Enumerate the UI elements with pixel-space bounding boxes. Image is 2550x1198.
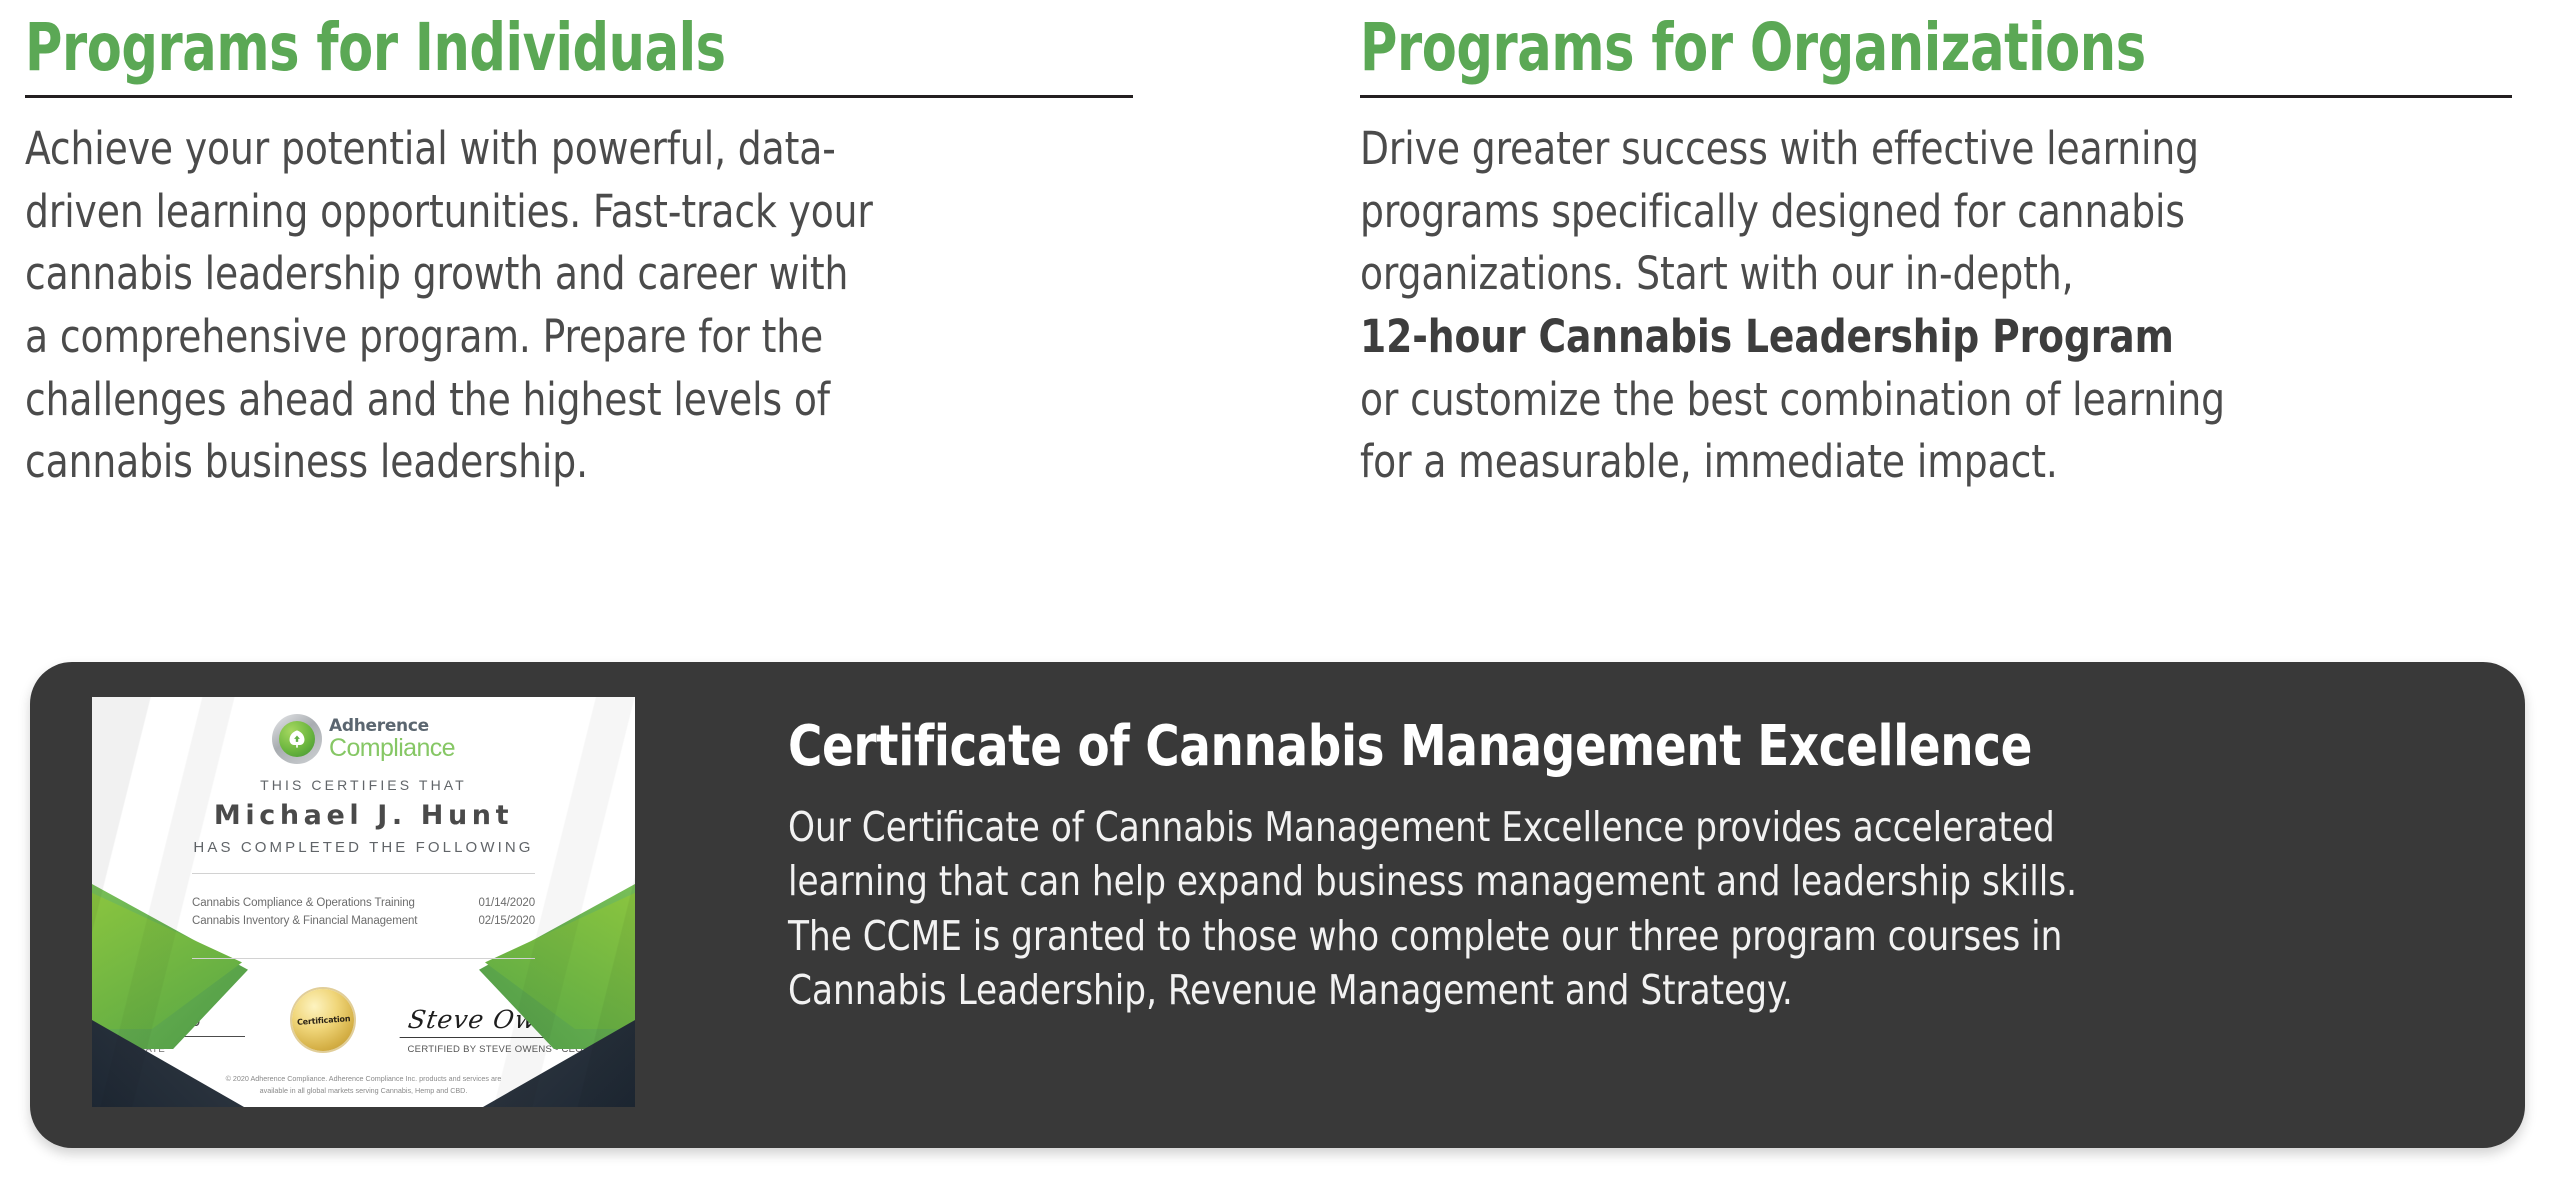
- organizations-body-line: or customize the best combination of lea…: [1360, 369, 2434, 432]
- programs-page: Programs for Individuals Achieve your po…: [0, 0, 2550, 1198]
- logo-inner-disc: [279, 721, 315, 757]
- adherence-compliance-logo: Adherence Compliance: [138, 711, 589, 767]
- certificate-card-title: Certificate of Cannabis Management Excel…: [788, 718, 2348, 777]
- course-date: 02/15/2020: [478, 913, 535, 931]
- certificate-subtitle: HAS COMPLETED THE FOLLOWING: [138, 839, 589, 856]
- course-name: Cannabis Inventory & Financial Managemen…: [192, 913, 417, 931]
- logo-brand-top: Adherence: [329, 718, 455, 735]
- leaf-upload-icon: [272, 714, 322, 764]
- organizations-heading: Programs for Organizations: [1360, 14, 2353, 81]
- individuals-heading: Programs for Individuals: [25, 14, 980, 81]
- certificate-course-list: Cannabis Compliance & Operations Trainin…: [192, 895, 535, 931]
- individuals-body-line: Achieve your potential with powerful, da…: [25, 118, 1057, 181]
- course-date: 01/14/2020: [478, 895, 535, 913]
- certificate-course-row: Cannabis Compliance & Operations Trainin…: [192, 895, 535, 913]
- certificate-description-line: Cannabis Leadership, Revenue Management …: [788, 963, 2348, 1018]
- organizations-body: Drive greater success with effective lea…: [1360, 118, 2434, 493]
- programs-for-individuals-column: Programs for Individuals Achieve your po…: [25, 14, 1135, 494]
- certificate-recipient-name: Michael J. Hunt: [138, 800, 589, 831]
- organizations-body-line: Drive greater success with effective lea…: [1360, 118, 2434, 181]
- certificate-thumbnail[interactable]: Adherence Compliance THIS CERTIFIES THAT…: [92, 697, 635, 1107]
- fineprint-line: available in all global markets serving …: [260, 1086, 468, 1095]
- certificate-card-description: Our Certificate of Cannabis Management E…: [788, 800, 2348, 1018]
- certificate-description-line: learning that can help expand business m…: [788, 854, 2348, 909]
- individuals-body-line: a comprehensive program. Prepare for the: [25, 306, 1057, 369]
- individuals-body-line: cannabis leadership growth and career wi…: [25, 243, 1057, 306]
- cannabis-leadership-program-emphasis: 12-hour Cannabis Leadership Program: [1360, 306, 2434, 369]
- individuals-heading-rule: [25, 95, 1133, 98]
- course-name: Cannabis Compliance & Operations Trainin…: [192, 895, 415, 913]
- fineprint-line: © 2020 Adherence Compliance. Adherence C…: [226, 1074, 502, 1083]
- certificate-content: Adherence Compliance THIS CERTIFIES THAT…: [92, 697, 635, 1107]
- individuals-body-line: cannabis business leadership.: [25, 431, 1057, 494]
- individuals-body-line: driven learning opportunities. Fast-trac…: [25, 181, 1057, 244]
- organizations-body-line: organizations. Start with our in-depth,: [1360, 243, 2434, 306]
- individuals-body: Achieve your potential with powerful, da…: [25, 118, 1057, 493]
- certificate-fineprint: © 2020 Adherence Compliance. Adherence C…: [212, 1073, 515, 1097]
- certificate-divider-bottom: [192, 958, 535, 959]
- organizations-body-line: programs specifically designed for canna…: [1360, 181, 2434, 244]
- logo-brand-bottom: Compliance: [329, 736, 455, 761]
- certificate-course-row: Cannabis Inventory & Financial Managemen…: [192, 913, 535, 931]
- certificate-divider-top: [192, 873, 535, 874]
- programs-columns: Programs for Individuals Achieve your po…: [0, 0, 2550, 620]
- programs-for-organizations-column: Programs for Organizations Drive greater…: [1360, 14, 2515, 494]
- certificate-kicker: THIS CERTIFIES THAT: [138, 777, 589, 793]
- certificate-card-copy: Certificate of Cannabis Management Excel…: [788, 718, 2465, 1018]
- logo-wordmark: Adherence Compliance: [329, 718, 455, 761]
- individuals-body-line: challenges ahead and the highest levels …: [25, 369, 1057, 432]
- certificate-description-line: Our Certificate of Cannabis Management E…: [788, 800, 2348, 855]
- certificate-description-line: The CCME is granted to those who complet…: [788, 909, 2348, 964]
- organizations-body-line: for a measurable, immediate impact.: [1360, 431, 2434, 494]
- organizations-heading-rule: [1360, 95, 2512, 98]
- certificate-card: Adherence Compliance THIS CERTIFIES THAT…: [30, 662, 2525, 1148]
